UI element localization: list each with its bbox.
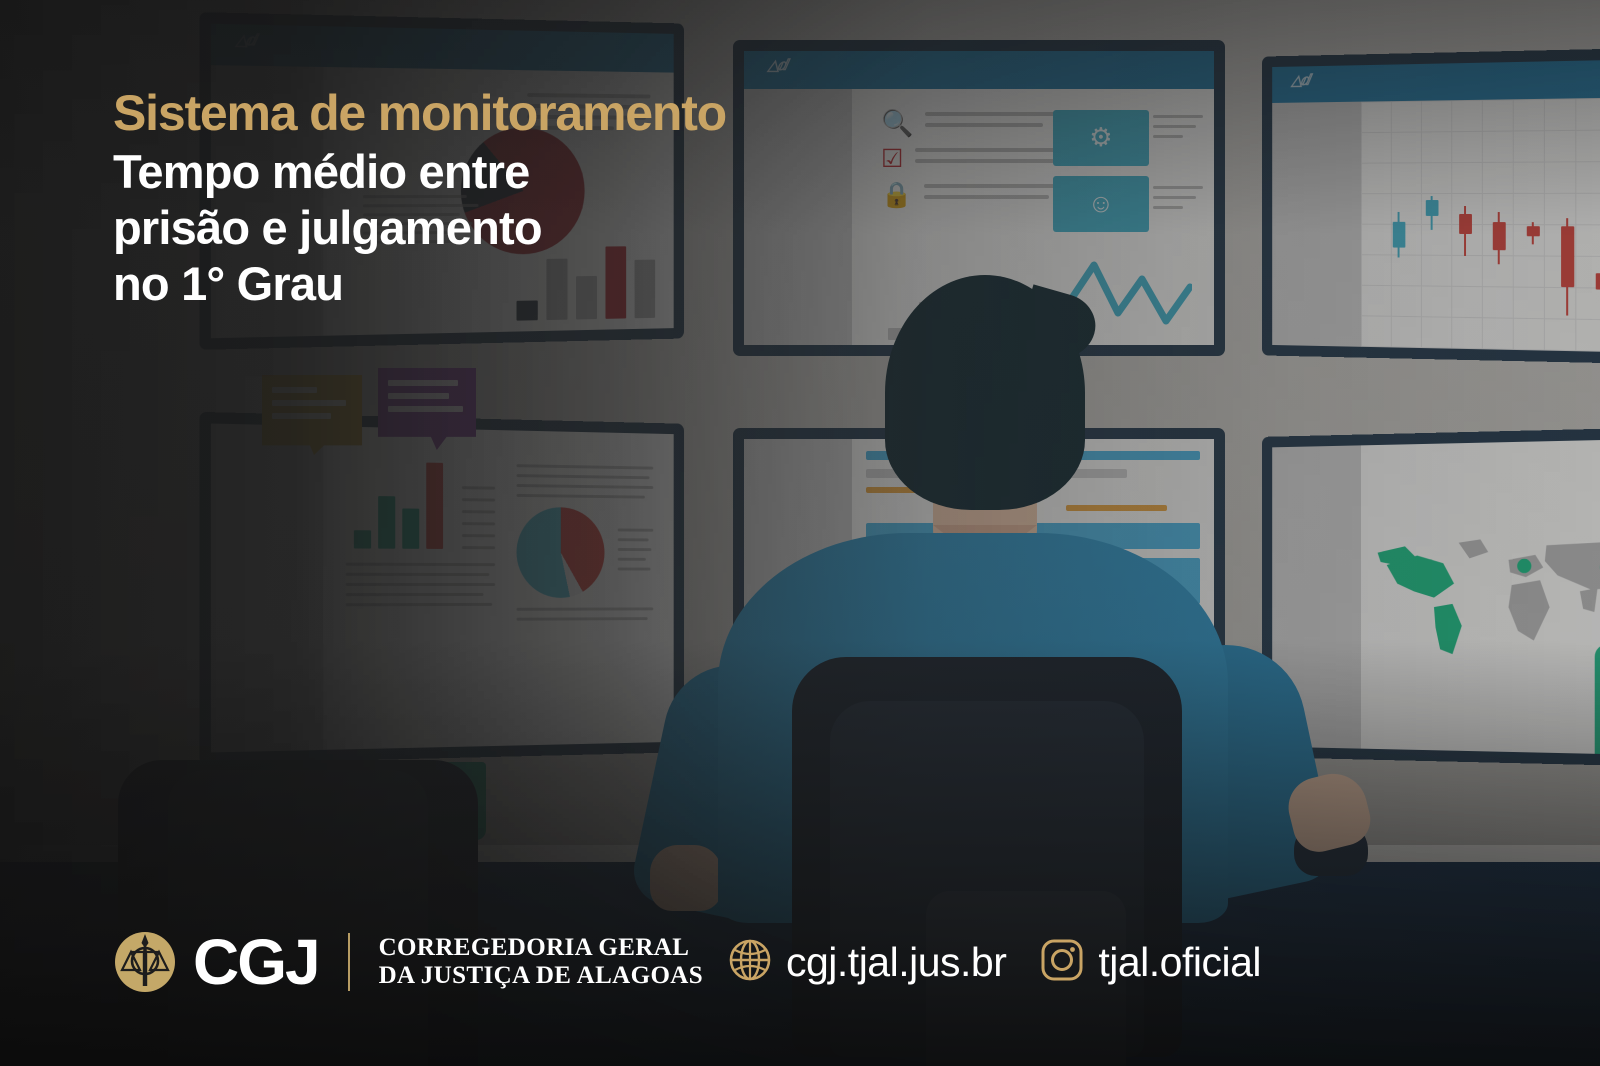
website-url: cgj.tjal.jus.br <box>786 939 1006 986</box>
brand-line-1: CORREGEDORIA GERAL <box>379 934 703 962</box>
instagram-handle: tjal.oficial <box>1098 939 1261 986</box>
headline-block: Sistema de monitoramento Tempo médio ent… <box>113 88 993 312</box>
headline-line-3: no 1° Grau <box>113 256 993 312</box>
poster-canvas: △ⅆ <box>0 0 1600 1066</box>
brand-lockup: CGJ CORREGEDORIA GERAL DA JUSTIÇA DE ALA… <box>113 920 703 1004</box>
brand-acronym: CGJ <box>193 933 319 992</box>
footer: CGJ CORREGEDORIA GERAL DA JUSTIÇA DE ALA… <box>0 920 1600 1004</box>
page-title: Tempo médio entre prisão e julgamento no… <box>113 144 993 312</box>
instagram-contact[interactable]: tjal.oficial <box>1040 938 1261 987</box>
globe-icon <box>728 938 772 987</box>
eyebrow-title: Sistema de monitoramento <box>113 88 993 138</box>
brand-divider <box>348 933 350 991</box>
brand-line-2: DA JUSTIÇA DE ALAGOAS <box>379 962 703 990</box>
headline-line-1: Tempo médio entre <box>113 144 993 200</box>
brand-name: CORREGEDORIA GERAL DA JUSTIÇA DE ALAGOAS <box>379 934 703 990</box>
headline-line-2: prisão e julgamento <box>113 200 993 256</box>
instagram-icon <box>1040 938 1084 987</box>
scales-of-justice-emblem-icon <box>113 930 177 994</box>
website-contact[interactable]: cgj.tjal.jus.br <box>728 938 1006 987</box>
contact-group: cgj.tjal.jus.br tjal.oficial <box>728 920 1261 1004</box>
